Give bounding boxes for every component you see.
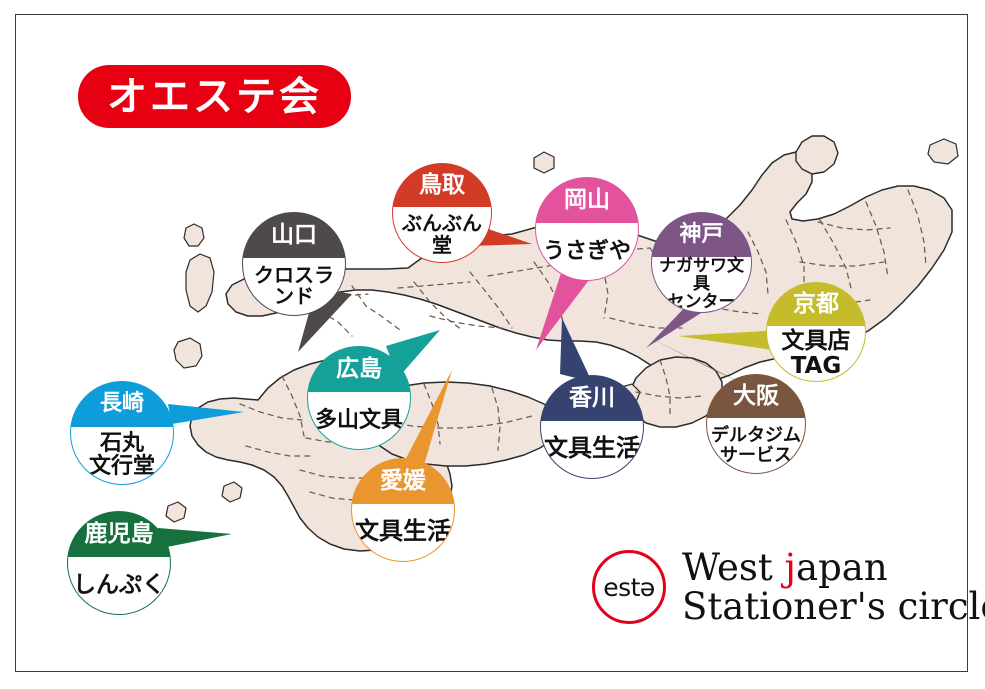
map-pin-kyoto[interactable]: 京都文具店 TAG <box>766 282 866 382</box>
map-pin-kagawa[interactable]: 香川文具生活 <box>540 375 644 479</box>
map-pin-yamaguchi[interactable]: 山口クロスランド <box>242 212 346 316</box>
map-pin-kagoshima[interactable]: 鹿児島しんぷく <box>67 511 171 615</box>
este-logo: estə West japan Stationer's circle <box>592 548 985 626</box>
este-logo-mark: estə <box>592 550 666 624</box>
map-pin-okayama[interactable]: 岡山うさぎや <box>535 177 639 281</box>
map-pin-ehime[interactable]: 愛媛文具生活 <box>351 458 455 562</box>
logo-line1-j: j <box>785 546 796 589</box>
page-title: オエステ会 <box>107 77 322 117</box>
map-pin-osaka[interactable]: 大阪デルタジム サービス <box>706 374 806 474</box>
map-pin-nagasaki[interactable]: 長崎石丸 文行堂 <box>70 381 174 485</box>
map-pin-hiroshima[interactable]: 広島多山文具 <box>307 346 411 450</box>
logo-text-block: West japan Stationer's circle <box>682 548 985 626</box>
logo-line-2: Stationer's circle <box>682 587 985 626</box>
logo-line1-before: West <box>682 546 785 589</box>
este-wordmark: estə <box>603 575 655 600</box>
title-badge: オエステ会 <box>78 65 351 128</box>
map-pin-tottori[interactable]: 鳥取ぶんぶん堂 <box>392 163 492 263</box>
map-pin-kobe[interactable]: 神戸ナガサワ文具 センター <box>651 212 752 313</box>
logo-line1-after: apan <box>796 546 888 589</box>
logo-line-1: West japan <box>682 548 985 587</box>
